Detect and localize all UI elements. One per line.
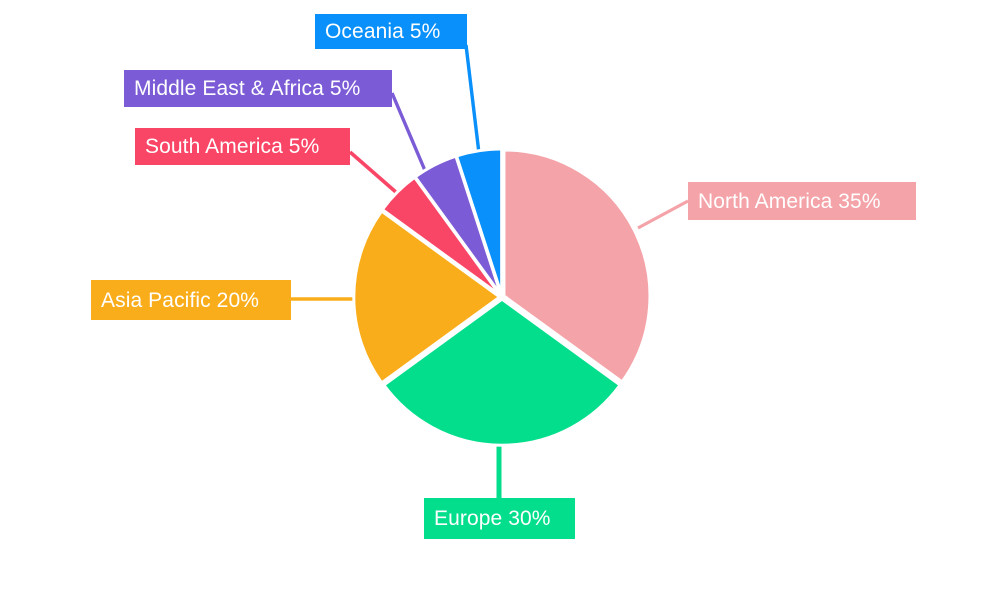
pie-label-europe-text: Europe 30% <box>434 508 551 529</box>
pie-chart-figure: North America 35% Europe 30% Asia Pacifi… <box>0 0 1000 600</box>
pie-label-north-america[interactable]: North America 35% <box>688 182 916 220</box>
pie-label-middle-east-africa[interactable]: Middle East & Africa 5% <box>124 70 392 107</box>
pie-label-oceania-text: Oceania 5% <box>325 21 440 42</box>
pie-label-south-america-text: South America 5% <box>145 136 319 157</box>
pie-label-oceania[interactable]: Oceania 5% <box>315 14 467 49</box>
pie-slices <box>354 149 650 445</box>
pie-label-europe[interactable]: Europe 30% <box>424 498 575 539</box>
pie-label-asia-pacific[interactable]: Asia Pacific 20% <box>91 280 291 320</box>
leader-line-north-america <box>638 201 688 228</box>
pie-label-middle-east-africa-text: Middle East & Africa 5% <box>134 78 360 99</box>
pie-label-north-america-text: North America 35% <box>698 191 881 212</box>
pie-label-south-america[interactable]: South America 5% <box>135 128 350 165</box>
pie-label-asia-pacific-text: Asia Pacific 20% <box>101 290 259 311</box>
